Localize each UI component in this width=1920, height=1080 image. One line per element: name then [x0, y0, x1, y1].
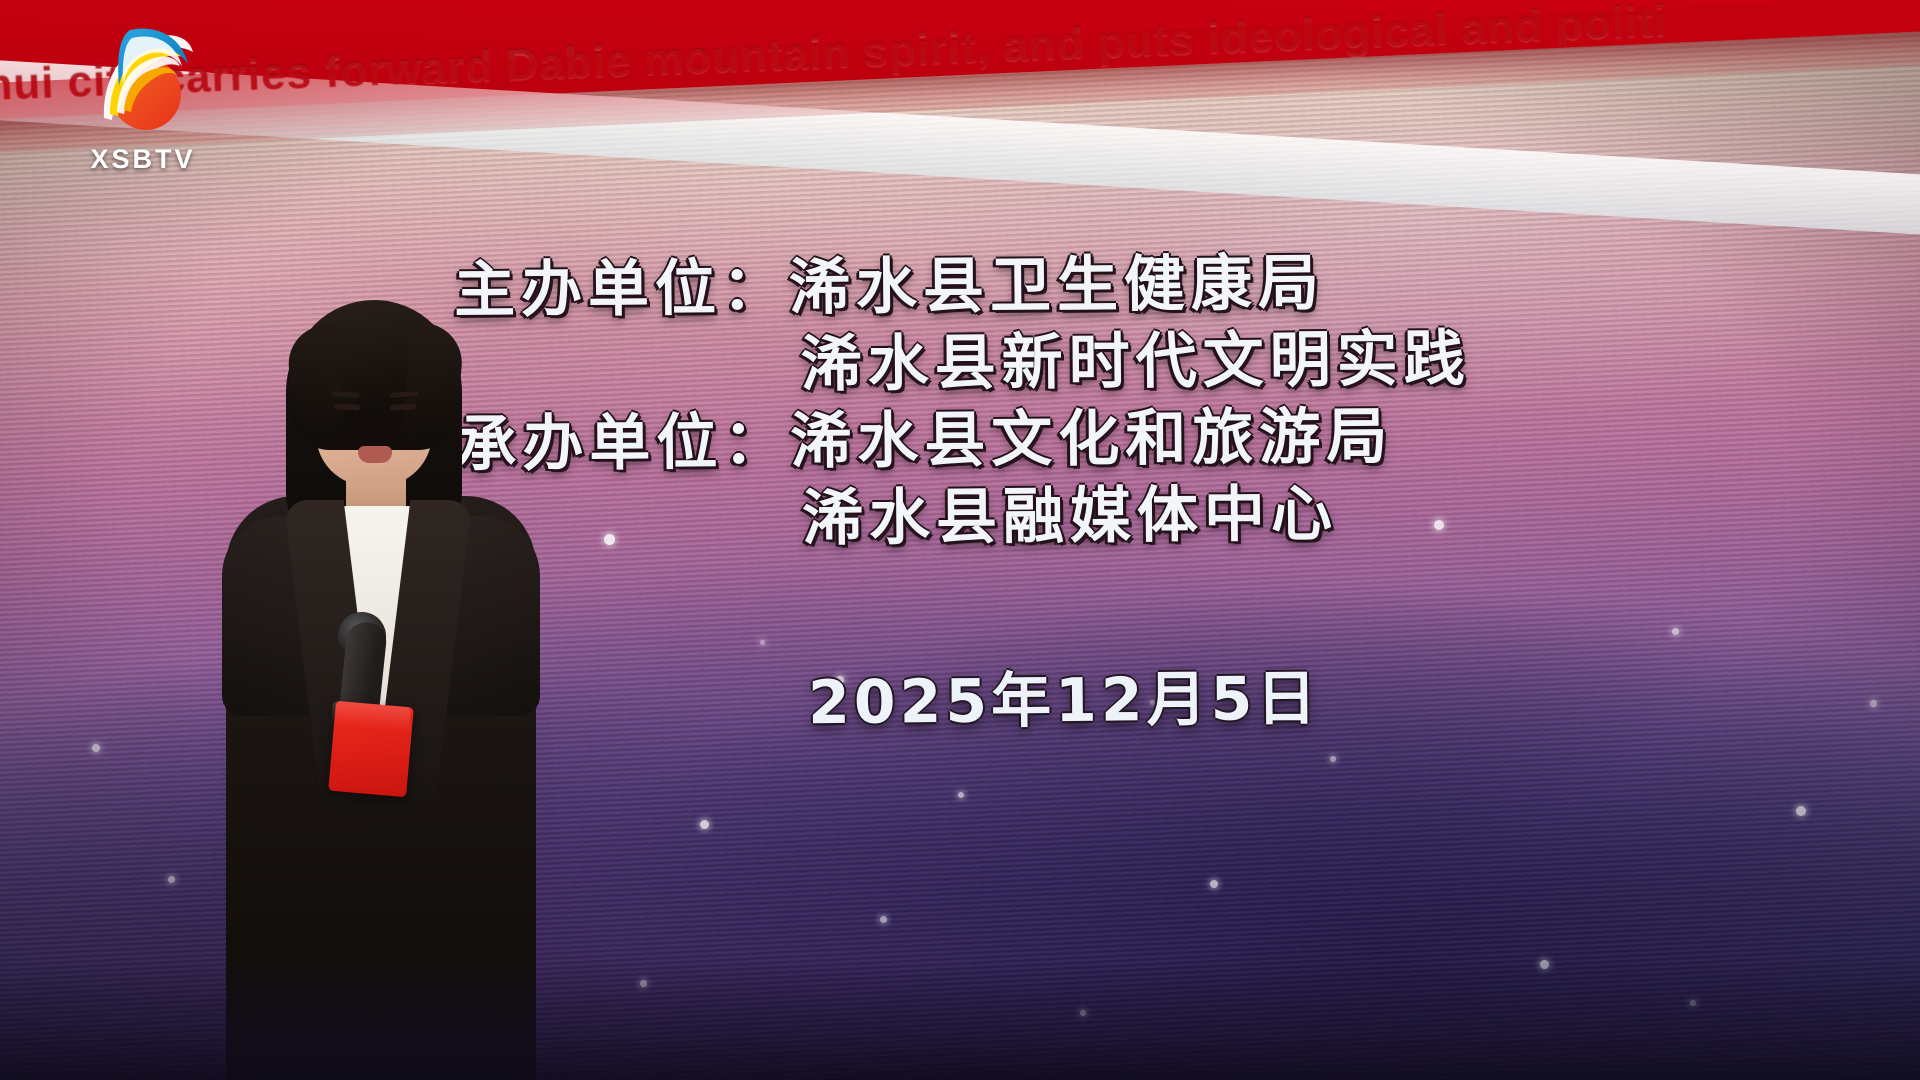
xsbtv-swirl-logo-icon: [86, 22, 196, 142]
credit-line-host-2: 浠水县融媒体中心: [456, 473, 1657, 560]
channel-logo: XSBTV: [68, 22, 218, 172]
channel-logo-text: XSBTV: [68, 144, 218, 175]
credit-line-host: 承办单位：浠水县文化和旅游局: [455, 396, 1656, 483]
presenter-mouth: [358, 446, 392, 463]
presenter-hair-strand-left: [286, 324, 346, 439]
event-date: 2025年12月5日: [808, 650, 1321, 741]
presenter-eye-left: [334, 403, 360, 410]
event-credits-block: 主办单位：浠水县卫生健康局 浠水县新时代文明实践 承办单位：浠水县文化和旅游局 …: [454, 243, 1657, 561]
credit-line-organizer-2: 浠水县新时代文明实践: [454, 320, 1655, 407]
credit-line-organizer: 主办单位：浠水县卫生健康局: [454, 243, 1655, 330]
stage-floor-shadow: [0, 960, 1920, 1080]
broadcast-frame: 主办单位：浠水县卫生健康局 浠水县新时代文明实践 承办单位：浠水县文化和旅游局 …: [0, 0, 1920, 1080]
